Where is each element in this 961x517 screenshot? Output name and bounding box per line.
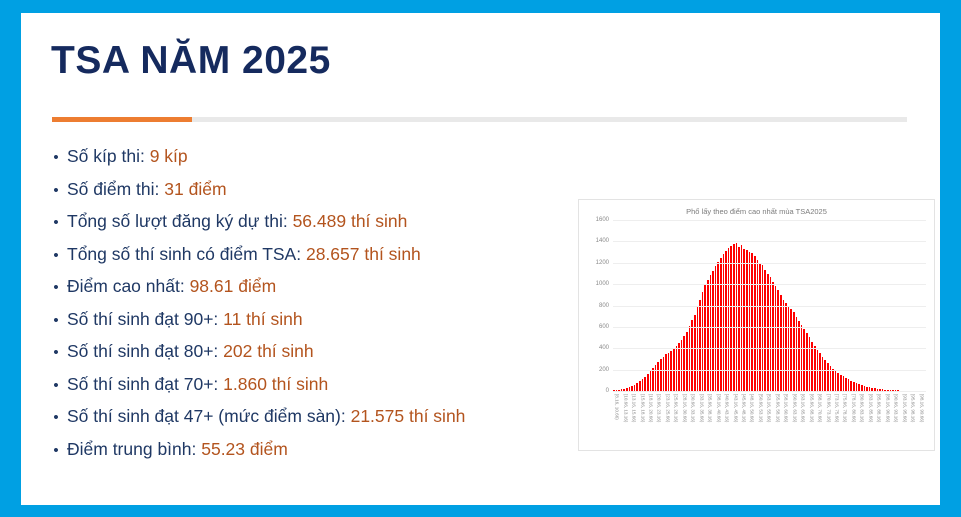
- chart-x-tick-label: [90.66, 93.16): [894, 394, 899, 422]
- chart-x-tick-label: [70.66, 73.16): [826, 394, 831, 422]
- chart-x-tick: [28.16, 30.66): [681, 394, 689, 444]
- list-item: •Tổng số thí sinh có điểm TSA: 28.657 th…: [45, 244, 565, 277]
- chart-gridline: 400: [613, 348, 926, 349]
- bullet-dot-icon: •: [45, 443, 67, 458]
- chart-x-tick: [63.16, 65.66): [799, 394, 807, 444]
- chart-x-tick-label: [40.66, 43.16): [725, 394, 730, 422]
- list-item: •Số thí sinh đạt 80+: 202 thí sinh: [45, 341, 565, 374]
- chart-x-tick: [10.66, 13.16): [621, 394, 629, 444]
- list-item-value: 55.23 điểm: [201, 439, 288, 459]
- chart-x-tick-label: [23.16, 25.66): [665, 394, 670, 422]
- chart-x-tick: [90.66, 93.16): [892, 394, 900, 444]
- chart-gridline: 200: [613, 370, 926, 371]
- chart-x-tick: [50.66, 53.16): [757, 394, 765, 444]
- chart-x-tick-label: [20.66, 23.16): [657, 394, 662, 422]
- chart-x-tick-label: [18.16, 20.66): [649, 394, 654, 422]
- chart-x-tick-label: [83.16, 85.66): [868, 394, 873, 422]
- chart-x-tick: [30.66, 33.16): [689, 394, 697, 444]
- chart-x-tick: [43.16, 45.66): [731, 394, 739, 444]
- chart-x-tick: [70.66, 73.16): [824, 394, 832, 444]
- chart-gridline: 1000: [613, 284, 926, 285]
- chart-x-tick-label: [8.16, 10.66): [615, 394, 620, 420]
- chart-x-tick-label: [53.16, 55.66): [767, 394, 772, 422]
- chart-gridline: 1400: [613, 241, 926, 242]
- bullet-list: •Số kíp thi: 9 kíp•Số điểm thi: 31 điểm•…: [45, 146, 565, 471]
- chart-x-tick: [33.16, 35.66): [698, 394, 706, 444]
- list-item-value: 56.489 thí sinh: [293, 211, 408, 231]
- list-item: •Số thí sinh đạt 70+: 1.860 thí sinh: [45, 374, 565, 407]
- chart-x-tick-label: [10.66, 13.16): [623, 394, 628, 422]
- chart-x-tick-label: [28.16, 30.66): [682, 394, 687, 422]
- bullet-dot-icon: •: [45, 248, 67, 263]
- chart-x-tick: [18.16, 20.66): [647, 394, 655, 444]
- chart-x-tick: [13.16, 15.66): [630, 394, 638, 444]
- chart-x-tick-label: [33.16, 35.66): [699, 394, 704, 422]
- chart-x-tick: [88.16, 90.66): [884, 394, 892, 444]
- chart-x-tick-label: [98.16, 99.66): [919, 394, 924, 422]
- chart-x-tick-label: [25.66, 28.16): [674, 394, 679, 422]
- chart-x-tick: [25.66, 28.16): [672, 394, 680, 444]
- chart-x-tick-label: [45.66, 48.16): [742, 394, 747, 422]
- bullet-dot-icon: •: [45, 345, 67, 360]
- list-item-label: Số thí sinh đạt 80+:: [67, 341, 223, 361]
- chart-y-tick-label: 800: [599, 303, 609, 309]
- list-item-value: 31 điểm: [164, 179, 226, 199]
- list-item-text: Tổng số thí sinh có điểm TSA: 28.657 thí…: [67, 244, 421, 265]
- chart-x-tick-labels: [8.16, 10.66)[10.66, 13.16)[13.16, 15.66…: [613, 394, 926, 444]
- list-item-label: Số thí sinh đạt 70+:: [67, 374, 223, 394]
- chart-x-tick: [20.66, 23.16): [655, 394, 663, 444]
- chart-y-tick-label: 600: [599, 324, 609, 330]
- bullet-dot-icon: •: [45, 215, 67, 230]
- chart-y-tick-label: 0: [606, 388, 609, 394]
- list-item-text: Số điểm thi: 31 điểm: [67, 179, 227, 200]
- list-item-value: 1.860 thí sinh: [223, 374, 328, 394]
- list-item-value: 202 thí sinh: [223, 341, 313, 361]
- chart-x-tick: [15.66, 18.16): [638, 394, 646, 444]
- chart-x-tick: [73.16, 75.66): [833, 394, 841, 444]
- chart-x-tick-label: [65.66, 68.16): [809, 394, 814, 422]
- chart-gridline: 600: [613, 327, 926, 328]
- chart-x-tick-label: [93.16, 95.66): [902, 394, 907, 422]
- chart-x-tick: [53.16, 55.66): [765, 394, 773, 444]
- chart-x-tick-label: [43.16, 45.66): [733, 394, 738, 422]
- chart-x-tick: [48.16, 50.66): [748, 394, 756, 444]
- slide-card: TSA NĂM 2025 •Số kíp thi: 9 kíp•Số điểm …: [21, 13, 940, 505]
- chart-x-tick-label: [50.66, 53.16): [758, 394, 763, 422]
- chart-x-tick: [60.66, 63.16): [791, 394, 799, 444]
- chart-gridline: 0: [613, 391, 926, 392]
- list-item: •Số kíp thi: 9 kíp: [45, 146, 565, 179]
- chart-x-tick: [23.16, 25.66): [664, 394, 672, 444]
- list-item-label: Số thí sinh đạt 90+:: [67, 309, 223, 329]
- chart-x-tick-label: [48.16, 50.66): [750, 394, 755, 422]
- page-title: TSA NĂM 2025: [51, 39, 331, 83]
- list-item-text: Số thí sinh đạt 80+: 202 thí sinh: [67, 341, 314, 362]
- list-item-label: Tổng số lượt đăng ký dự thi:: [67, 211, 293, 231]
- chart-x-tick-label: [15.66, 18.16): [640, 394, 645, 422]
- bullet-dot-icon: •: [45, 150, 67, 165]
- list-item-value: 9 kíp: [150, 146, 188, 166]
- chart-y-tick-label: 200: [599, 367, 609, 373]
- list-item-text: Số thí sinh đạt 90+: 11 thí sinh: [67, 309, 303, 330]
- title-accent-bar: [52, 117, 192, 122]
- list-item: •Điểm cao nhất: 98.61 điểm: [45, 276, 565, 309]
- chart-x-tick: [85.66, 88.16): [875, 394, 883, 444]
- chart-y-tick-label: 1400: [596, 238, 609, 244]
- chart-x-tick: [75.66, 78.16): [841, 394, 849, 444]
- list-item-text: Số thí sinh đạt 47+ (mức điểm sàn): 21.5…: [67, 406, 465, 427]
- chart-container: Phổ lấy theo điểm cao nhất mùa TSA2025 0…: [578, 199, 935, 451]
- chart-x-tick-label: [35.66, 38.16): [708, 394, 713, 422]
- bullet-dot-icon: •: [45, 410, 67, 425]
- list-item-text: Điểm trung bình: 55.23 điểm: [67, 439, 288, 460]
- chart-x-tick-label: [80.66, 83.16): [860, 394, 865, 422]
- list-item-text: Số thí sinh đạt 70+: 1.860 thí sinh: [67, 374, 328, 395]
- list-item-label: Số kíp thi:: [67, 146, 150, 166]
- chart-x-tick-label: [58.16, 60.66): [784, 394, 789, 422]
- chart-x-tick-label: [88.16, 90.66): [885, 394, 890, 422]
- list-item-value: 98.61 điểm: [190, 276, 277, 296]
- chart-x-tick-label: [85.66, 88.16): [877, 394, 882, 422]
- list-item-value: 11 thí sinh: [223, 309, 302, 329]
- bullet-dot-icon: •: [45, 378, 67, 393]
- bullet-dot-icon: •: [45, 313, 67, 328]
- chart-x-tick: [80.66, 83.16): [858, 394, 866, 444]
- list-item-label: Số thí sinh đạt 47+ (mức điểm sàn):: [67, 406, 351, 426]
- list-item-label: Điểm cao nhất:: [67, 276, 190, 296]
- chart-x-tick-label: [73.16, 75.66): [835, 394, 840, 422]
- list-item: •Số thí sinh đạt 47+ (mức điểm sàn): 21.…: [45, 406, 565, 439]
- chart-y-tick-label: 1200: [596, 260, 609, 266]
- list-item-text: Tổng số lượt đăng ký dự thi: 56.489 thí …: [67, 211, 407, 232]
- chart-x-tick: [38.16, 40.66): [714, 394, 722, 444]
- chart-x-tick-label: [75.66, 78.16): [843, 394, 848, 422]
- title-divider: [52, 117, 907, 122]
- chart-gridline: 800: [613, 306, 926, 307]
- chart-x-tick-label: [78.16, 80.66): [851, 394, 856, 422]
- chart-title: Phổ lấy theo điểm cao nhất mùa TSA2025: [579, 207, 934, 216]
- bullet-dot-icon: •: [45, 280, 67, 295]
- chart-x-tick-label: [13.16, 15.66): [632, 394, 637, 422]
- chart-x-tick-label: [95.66, 98.16): [911, 394, 916, 422]
- chart-x-tick-label: [63.16, 65.66): [801, 394, 806, 422]
- chart-x-tick: [95.66, 98.16): [909, 394, 917, 444]
- chart-x-tick-label: [60.66, 63.16): [792, 394, 797, 422]
- chart-y-tick-label: 400: [599, 345, 609, 351]
- chart-x-tick: [35.66, 38.16): [706, 394, 714, 444]
- list-item: •Tổng số lượt đăng ký dự thi: 56.489 thí…: [45, 211, 565, 244]
- chart-x-tick: [8.16, 10.66): [613, 394, 621, 444]
- chart-x-tick: [98.16, 99.66): [917, 394, 925, 444]
- list-item-text: Điểm cao nhất: 98.61 điểm: [67, 276, 276, 297]
- list-item-label: Tổng số thí sinh có điểm TSA:: [67, 244, 306, 264]
- chart-x-tick: [55.66, 58.16): [774, 394, 782, 444]
- list-item: •Số thí sinh đạt 90+: 11 thí sinh: [45, 309, 565, 342]
- chart-gridline: 1600: [613, 220, 926, 221]
- list-item-label: Điểm trung bình:: [67, 439, 201, 459]
- chart-x-tick: [78.16, 80.66): [850, 394, 858, 444]
- list-item: •Điểm trung bình: 55.23 điểm: [45, 439, 565, 472]
- chart-plot-area: 02004006008001000120014001600: [613, 221, 926, 392]
- chart-x-tick: [40.66, 43.16): [723, 394, 731, 444]
- list-item: •Số điểm thi: 31 điểm: [45, 179, 565, 212]
- chart-x-tick-label: [55.66, 58.16): [775, 394, 780, 422]
- chart-x-tick-label: [68.16, 70.66): [818, 394, 823, 422]
- list-item-text: Số kíp thi: 9 kíp: [67, 146, 188, 167]
- list-item-value: 28.657 thí sinh: [306, 244, 421, 264]
- chart-x-tick: [93.16, 95.66): [900, 394, 908, 444]
- chart-x-tick: [58.16, 60.66): [782, 394, 790, 444]
- chart-x-tick: [68.16, 70.66): [816, 394, 824, 444]
- chart-y-tick-label: 1000: [596, 281, 609, 287]
- bullet-dot-icon: •: [45, 183, 67, 198]
- chart-x-tick: [45.66, 48.16): [740, 394, 748, 444]
- list-item-label: Số điểm thi:: [67, 179, 164, 199]
- chart-x-tick-label: [30.66, 33.16): [691, 394, 696, 422]
- chart-x-tick: [83.16, 85.66): [867, 394, 875, 444]
- list-item-value: 21.575 thí sinh: [351, 406, 466, 426]
- chart-y-tick-label: 1600: [596, 217, 609, 223]
- chart-x-tick-label: [38.16, 40.66): [716, 394, 721, 422]
- chart-gridline: 1200: [613, 263, 926, 264]
- chart-x-tick: [65.66, 68.16): [807, 394, 815, 444]
